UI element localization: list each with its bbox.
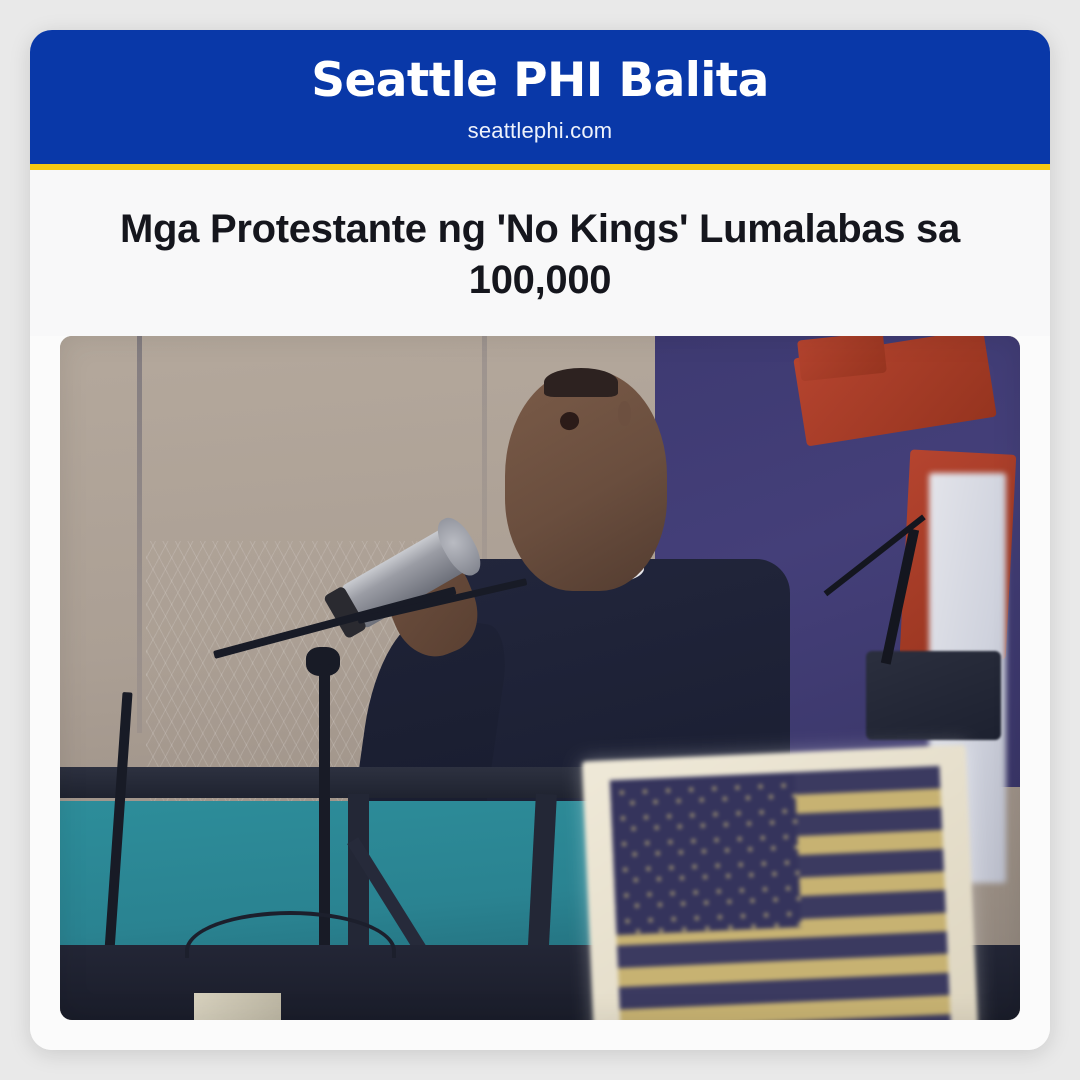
speaker-box bbox=[866, 651, 1000, 740]
us-flag-icon bbox=[582, 745, 978, 1020]
brand-title: Seattle PHI Balita bbox=[60, 56, 1020, 107]
sign-post bbox=[194, 993, 280, 1020]
article-headline: Mga Protestante ng 'No Kings' Lumalabas … bbox=[75, 204, 1005, 306]
ear bbox=[618, 401, 631, 425]
news-card: Seattle PHI Balita seattlephi.com Mga Pr… bbox=[30, 30, 1050, 1050]
flag-canton bbox=[610, 773, 802, 936]
head bbox=[505, 370, 666, 591]
brand-domain: seattlephi.com bbox=[60, 118, 1020, 144]
flag-stripes bbox=[610, 766, 952, 1020]
hair bbox=[544, 368, 618, 397]
headline-section: Mga Protestante ng 'No Kings' Lumalabas … bbox=[30, 170, 1050, 336]
article-image: JUST bbox=[60, 336, 1020, 1020]
card-header: Seattle PHI Balita seattlephi.com bbox=[30, 30, 1050, 170]
article-image-section: JUST bbox=[30, 336, 1050, 1050]
tent-seam bbox=[137, 336, 142, 733]
open-mouth bbox=[558, 410, 581, 432]
